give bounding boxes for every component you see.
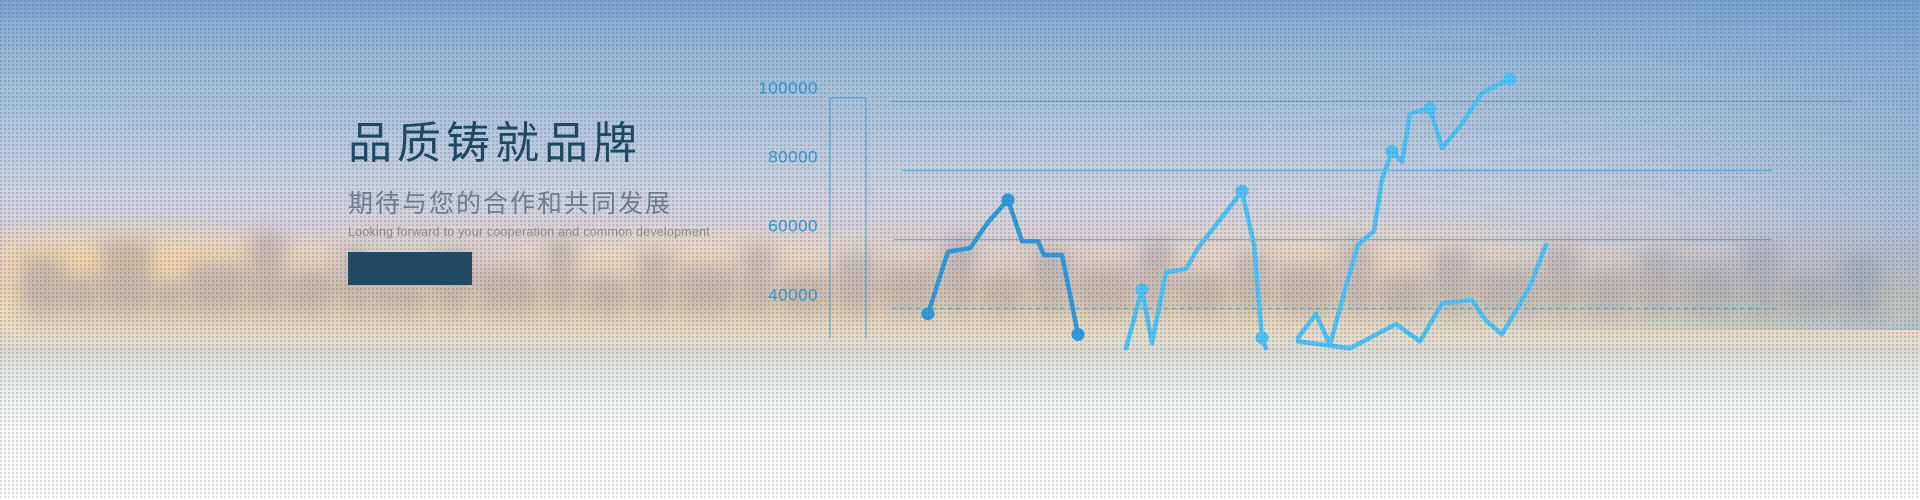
chart-data-point	[1424, 102, 1437, 115]
chart-y-axis-labels: 100000800006000040000	[760, 78, 818, 304]
y-tick-label: 80000	[768, 147, 818, 166]
chart-data-point	[1236, 185, 1249, 198]
chart-data-point	[1504, 72, 1517, 85]
chart-data-point	[922, 307, 935, 320]
chart-data-point	[1386, 145, 1399, 158]
statistics-line-chart: 100000800006000040000	[760, 0, 1920, 500]
chart-svg: 100000800006000040000	[760, 0, 1920, 500]
hero-subtitle-english: Looking forward to your cooperation and …	[348, 223, 768, 241]
chart-series-3	[1298, 72, 1517, 344]
cta-button[interactable]	[348, 252, 472, 285]
chart-data-point	[1136, 283, 1149, 296]
chart-line	[1298, 79, 1510, 345]
page-title: 品质铸就品牌	[348, 118, 768, 170]
chart-data-point	[1256, 331, 1269, 344]
hero-copy-block: 品质铸就品牌 期待与您的合作和共同发展 Looking forward to y…	[348, 118, 768, 241]
chart-series-2	[1126, 185, 1269, 349]
chart-line	[928, 200, 1078, 335]
chart-line	[1126, 191, 1266, 348]
y-tick-label: 40000	[768, 286, 818, 305]
hero-banner: 100000800006000040000 品质铸就品牌 期待与您的合作和共同发…	[0, 0, 1920, 500]
chart-gridlines	[890, 101, 1852, 308]
y-tick-label: 100000	[760, 78, 818, 97]
y-tick-label: 60000	[768, 217, 818, 236]
chart-data-point	[1002, 193, 1015, 206]
chart-data-point	[1072, 328, 1085, 341]
hero-subtitle: 期待与您的合作和共同发展	[348, 188, 768, 220]
chart-series-1	[922, 193, 1085, 341]
chart-axis	[830, 98, 866, 338]
